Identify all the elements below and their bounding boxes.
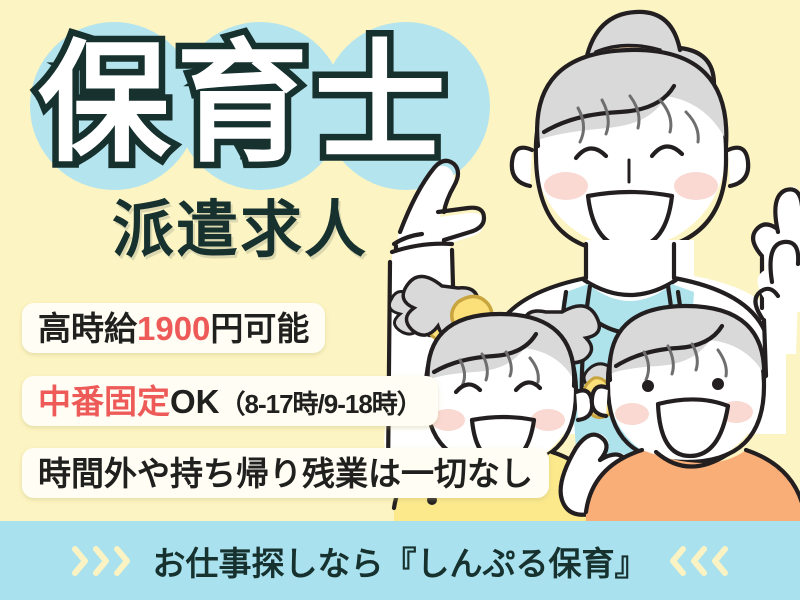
feature-wage-highlight: 1900 <box>137 310 210 347</box>
feature-shift-highlight: 中番固定 <box>38 383 170 420</box>
chevron-left-icon <box>691 546 708 576</box>
feature-shift-note: （8-17時/9-18時） <box>220 389 422 419</box>
feature-overtime-text: 時間外や持ち帰り残業は一切なし <box>38 455 533 492</box>
feature-wage-prefix: 高時給 <box>38 310 137 347</box>
chevron-left-icon <box>670 546 687 576</box>
poster-canvas: .ln { fill:none; stroke:#231F20; stroke-… <box>0 0 800 600</box>
chevron-left-icon <box>712 546 729 576</box>
chevron-group-right <box>670 546 729 576</box>
feature-shift-suffix: OK <box>170 383 220 420</box>
feature-wage-suffix: 円可能 <box>210 310 309 347</box>
banner-tagline: お仕事探しなら『しんぷる保育』 <box>153 537 648 585</box>
page-subtitle: 派遣求人 <box>112 196 368 266</box>
feature-pill-wage: 高時給1900円可能 <box>22 303 325 353</box>
chevron-right-icon <box>93 546 110 576</box>
page-title: 保育士 <box>38 34 452 174</box>
chevron-right-icon <box>114 546 131 576</box>
bottom-banner: お仕事探しなら『しんぷる保育』 <box>0 521 800 600</box>
chevron-right-icon <box>72 546 89 576</box>
chevron-group-left <box>72 546 131 576</box>
feature-pill-shift: 中番固定OK（8-17時/9-18時） <box>22 376 438 426</box>
feature-pill-overtime: 時間外や持ち帰り残業は一切なし <box>22 448 549 498</box>
